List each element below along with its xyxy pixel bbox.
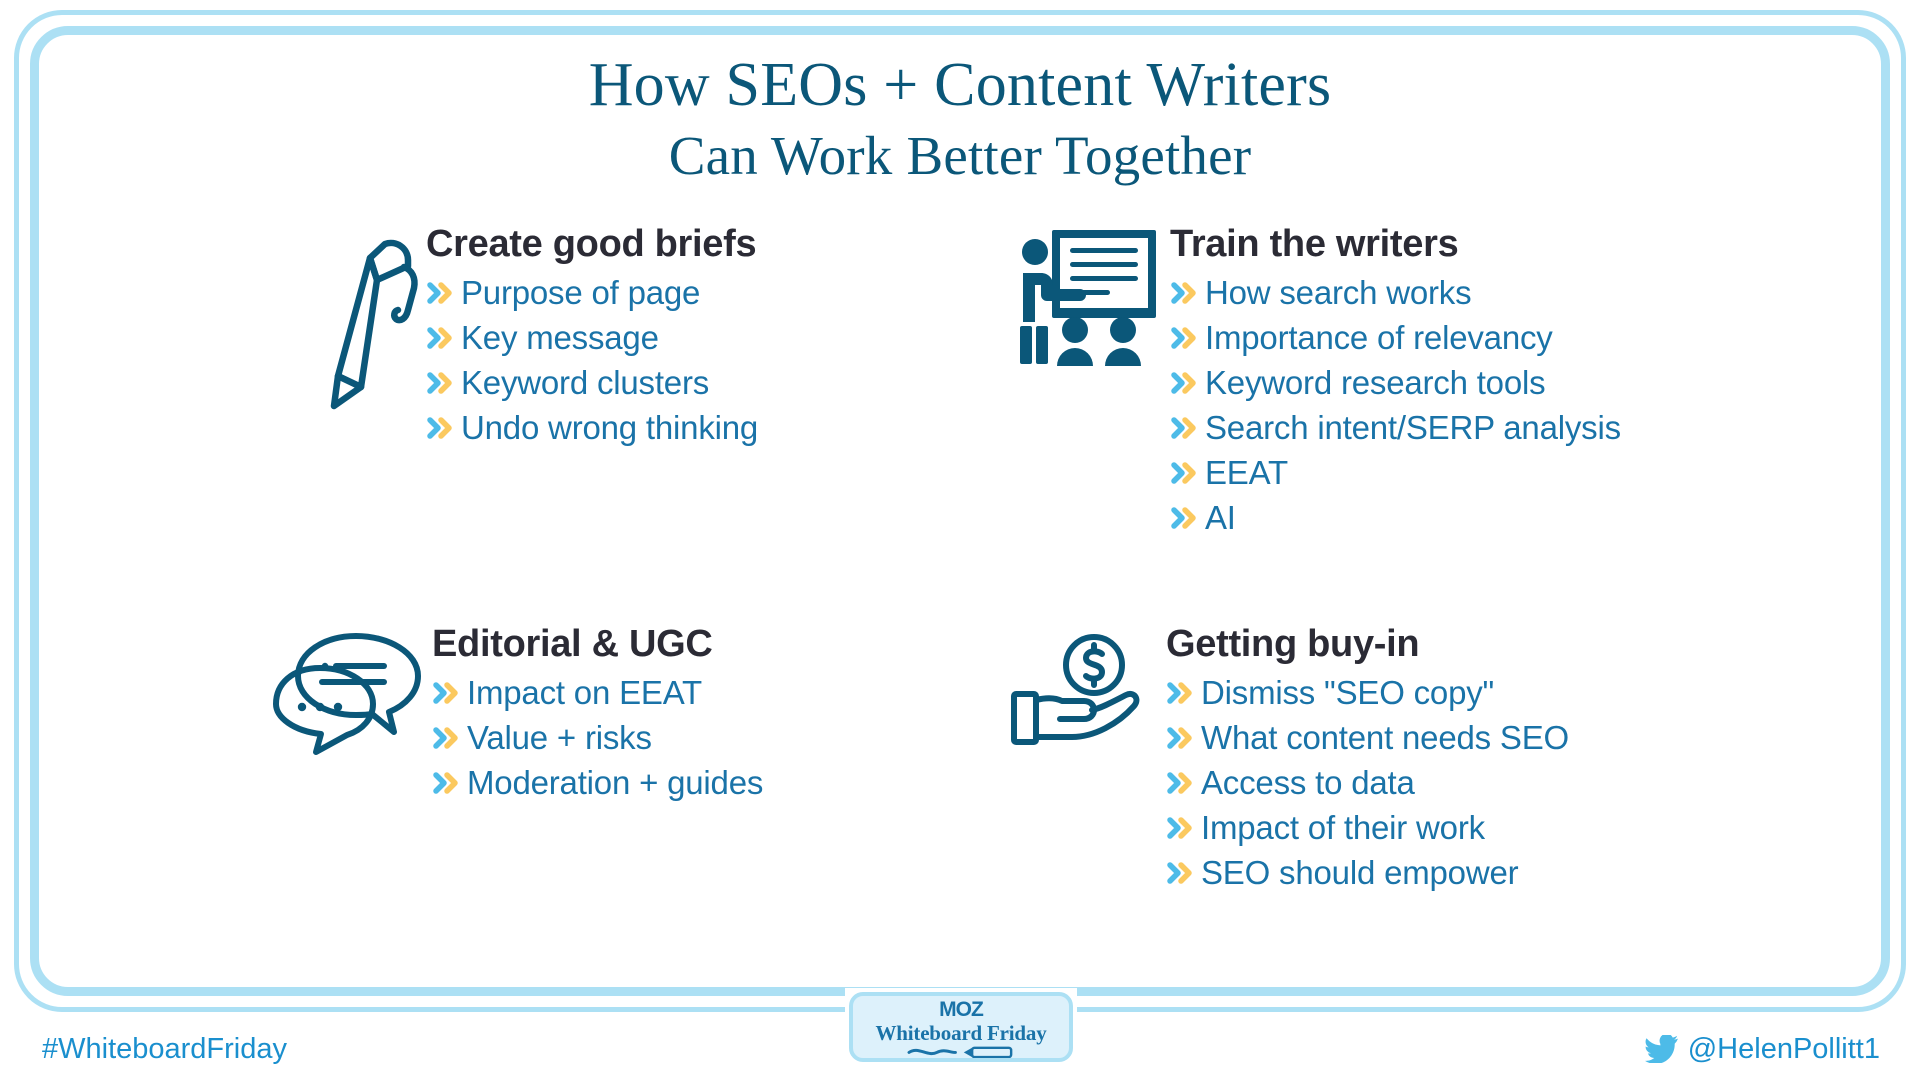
list-item: Moderation + guides <box>432 762 763 804</box>
section-body: Train the writers How search works Impor… <box>1170 222 1621 542</box>
hashtag-label: #WhiteboardFriday <box>42 1032 287 1066</box>
section-create-good-briefs: Create good briefs Purpose of page Key m… <box>330 222 758 452</box>
bullet-label: How search works <box>1205 272 1471 314</box>
double-chevron-icon <box>1166 723 1196 753</box>
list-item: Dismiss "SEO copy" <box>1166 672 1569 714</box>
twitter-handle-label: @HelenPollitt1 <box>1688 1032 1880 1066</box>
bullet-label: Key message <box>461 317 659 359</box>
page-title: How SEOs + Content Writers Can Work Bett… <box>0 48 1920 190</box>
speech-bubbles-icon <box>272 632 422 757</box>
whiteboard-canvas: How SEOs + Content Writers Can Work Bett… <box>0 0 1920 1080</box>
double-chevron-icon <box>1166 858 1196 888</box>
list-item: Key message <box>426 317 758 359</box>
twitter-bird-icon <box>1645 1035 1679 1063</box>
bullet-label: Value + risks <box>467 717 652 759</box>
double-chevron-icon <box>426 368 456 398</box>
list-item: How search works <box>1170 272 1621 314</box>
list-item: Impact of their work <box>1166 807 1569 849</box>
section-heading: Getting buy-in <box>1166 622 1569 666</box>
bullet-label: Dismiss "SEO copy" <box>1201 672 1494 714</box>
bullet-list: How search works Importance of relevancy… <box>1170 272 1621 539</box>
bullet-label: Moderation + guides <box>467 762 763 804</box>
list-item: Search intent/SERP analysis <box>1170 407 1621 449</box>
list-item: Keyword clusters <box>426 362 758 404</box>
bullet-label: Search intent/SERP analysis <box>1205 407 1621 449</box>
double-chevron-icon <box>426 323 456 353</box>
section-editorial-and-ugc: Editorial & UGC Impact on EEAT Value + r… <box>272 622 763 807</box>
title-line-1: How SEOs + Content Writers <box>0 48 1920 122</box>
list-item: What content needs SEO <box>1166 717 1569 759</box>
double-chevron-icon <box>1170 278 1200 308</box>
double-chevron-icon <box>1166 678 1196 708</box>
bullet-label: Impact on EEAT <box>467 672 702 714</box>
section-heading: Create good briefs <box>426 222 758 266</box>
bullet-label: Access to data <box>1201 762 1415 804</box>
moz-whiteboard-friday-badge[interactable]: MOZ Whiteboard Friday <box>849 992 1073 1062</box>
list-item: EEAT <box>1170 452 1621 494</box>
bullet-label: EEAT <box>1205 452 1288 494</box>
list-item: Undo wrong thinking <box>426 407 758 449</box>
bullet-list: Purpose of page Key message Keyword clus… <box>426 272 758 449</box>
double-chevron-icon <box>1170 503 1200 533</box>
title-line-2: Can Work Better Together <box>0 122 1920 190</box>
list-item: Impact on EEAT <box>432 672 763 714</box>
pencil-icon <box>330 236 422 411</box>
section-heading: Train the writers <box>1170 222 1621 266</box>
bullet-list: Impact on EEAT Value + risks Moderation … <box>432 672 763 804</box>
section-body: Editorial & UGC Impact on EEAT Value + r… <box>432 622 763 807</box>
double-chevron-icon <box>1166 768 1196 798</box>
marker-squiggle-icon <box>901 1045 1021 1058</box>
hand-holding-coin-icon <box>1010 632 1150 752</box>
section-train-the-writers: Train the writers How search works Impor… <box>1018 222 1621 542</box>
section-heading: Editorial & UGC <box>432 622 763 666</box>
double-chevron-icon <box>1170 323 1200 353</box>
bullet-label: Undo wrong thinking <box>461 407 758 449</box>
double-chevron-icon <box>1166 813 1196 843</box>
section-getting-buy-in: Getting buy-in Dismiss "SEO copy" What c… <box>1010 622 1569 897</box>
double-chevron-icon <box>432 723 462 753</box>
bullet-label: Impact of their work <box>1201 807 1485 849</box>
bullet-label: Keyword research tools <box>1205 362 1545 404</box>
list-item: Importance of relevancy <box>1170 317 1621 359</box>
list-item: Keyword research tools <box>1170 362 1621 404</box>
bullet-list: Dismiss "SEO copy" What content needs SE… <box>1166 672 1569 894</box>
list-item: AI <box>1170 497 1621 539</box>
bullet-label: SEO should empower <box>1201 852 1518 894</box>
bullet-label: AI <box>1205 497 1236 539</box>
whiteboard-friday-label: Whiteboard Friday <box>875 1021 1046 1045</box>
double-chevron-icon <box>426 413 456 443</box>
bullet-label: Importance of relevancy <box>1205 317 1553 359</box>
bullet-label: Purpose of page <box>461 272 700 314</box>
section-body: Create good briefs Purpose of page Key m… <box>426 222 758 452</box>
section-body: Getting buy-in Dismiss "SEO copy" What c… <box>1166 622 1569 897</box>
list-item: SEO should empower <box>1166 852 1569 894</box>
twitter-credit: @HelenPollitt1 <box>1645 1032 1880 1066</box>
double-chevron-icon <box>432 678 462 708</box>
double-chevron-icon <box>1170 368 1200 398</box>
list-item: Access to data <box>1166 762 1569 804</box>
double-chevron-icon <box>426 278 456 308</box>
double-chevron-icon <box>1170 458 1200 488</box>
sections-grid: Create good briefs Purpose of page Key m… <box>0 222 1920 962</box>
bullet-label: What content needs SEO <box>1201 717 1569 759</box>
list-item: Purpose of page <box>426 272 758 314</box>
moz-wordmark: MOZ <box>939 999 983 1021</box>
presenter-whiteboard-icon <box>1018 226 1158 366</box>
bullet-label: Keyword clusters <box>461 362 709 404</box>
list-item: Value + risks <box>432 717 763 759</box>
double-chevron-icon <box>1170 413 1200 443</box>
double-chevron-icon <box>432 768 462 798</box>
